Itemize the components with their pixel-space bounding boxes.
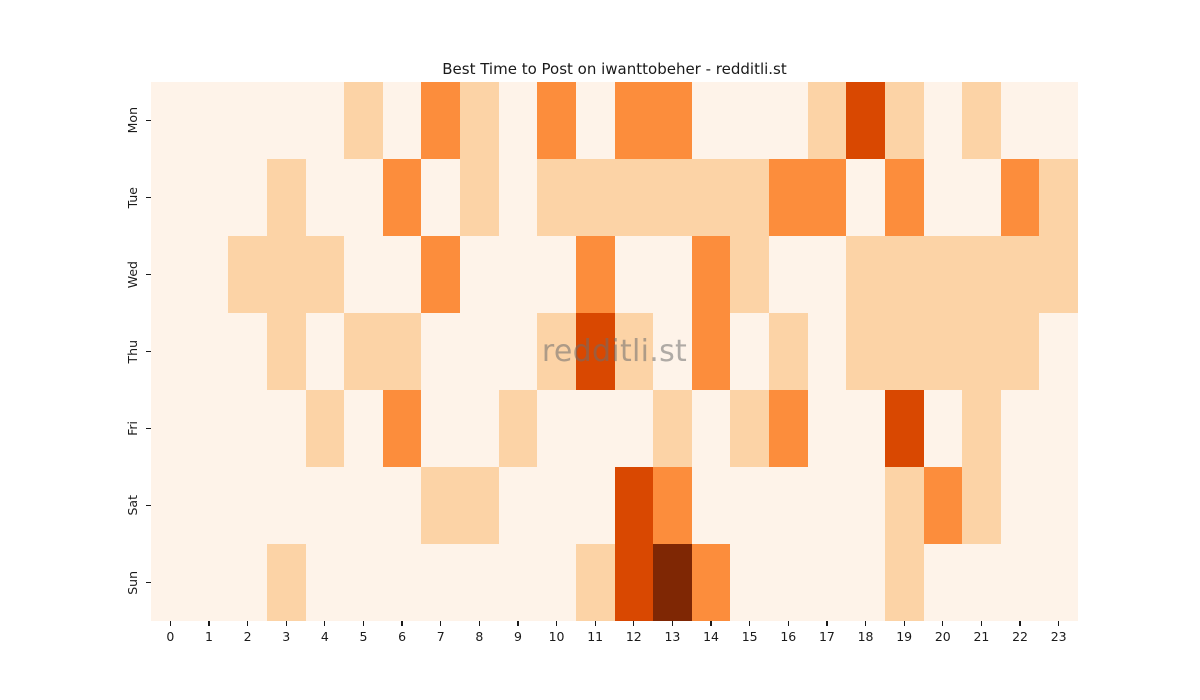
x-tick-19: 19 [885, 621, 924, 671]
x-tick-label: 9 [514, 631, 522, 644]
heatmap-cell [190, 390, 229, 467]
heatmap-cell [808, 159, 847, 236]
heatmap-cell [885, 313, 924, 390]
heatmap-cell [344, 467, 383, 544]
x-tick-mark [710, 621, 711, 626]
heatmap-cell [576, 544, 615, 621]
x-tick-15: 15 [730, 621, 769, 671]
heatmap-cell [846, 313, 885, 390]
x-tick-mark [479, 621, 480, 626]
heatmap-grid [151, 82, 1078, 621]
heatmap-cell [306, 390, 345, 467]
y-tick-label: Mon [127, 107, 140, 133]
heatmap-cell [267, 82, 306, 159]
heatmap-cell [344, 390, 383, 467]
x-tick-10: 10 [537, 621, 576, 671]
heatmap-cell [846, 467, 885, 544]
x-tick-mark [981, 621, 982, 626]
heatmap-cell [924, 313, 963, 390]
heatmap-cell [228, 390, 267, 467]
heatmap-cell [808, 313, 847, 390]
heatmap-cell [306, 159, 345, 236]
heatmap-cell [962, 544, 1001, 621]
heatmap-cell [151, 236, 190, 313]
heatmap-cell [344, 544, 383, 621]
heatmap-cell [421, 544, 460, 621]
y-axis: MonTueWedThuFriSatSun [0, 82, 151, 621]
x-axis: 01234567891011121314151617181920212223 [151, 621, 1078, 671]
y-tick-label: Fri [127, 421, 140, 436]
x-tick-3: 3 [267, 621, 306, 671]
heatmap-cell [615, 236, 654, 313]
heatmap-cell [344, 236, 383, 313]
heatmap-cell [846, 390, 885, 467]
x-tick-label: 12 [626, 631, 642, 644]
x-tick-label: 4 [321, 631, 329, 644]
heatmap-cell [1001, 467, 1040, 544]
heatmap-cell [1001, 82, 1040, 159]
x-tick-mark [595, 621, 596, 626]
heatmap-cell [499, 313, 538, 390]
heatmap-cell [460, 390, 499, 467]
heatmap-cell [576, 82, 615, 159]
heatmap-cell [1001, 390, 1040, 467]
x-tick-label: 7 [437, 631, 445, 644]
heatmap-cell [190, 467, 229, 544]
x-tick-mark [1058, 621, 1059, 626]
heatmap-cell [808, 467, 847, 544]
heatmap-cell [190, 544, 229, 621]
heatmap-cell [344, 159, 383, 236]
heatmap-cell [846, 236, 885, 313]
heatmap-cell [537, 159, 576, 236]
heatmap-cell [421, 236, 460, 313]
heatmap-cell [730, 390, 769, 467]
x-tick-20: 20 [924, 621, 963, 671]
heatmap-cell [730, 467, 769, 544]
heatmap-cell [885, 236, 924, 313]
heatmap-cell [576, 390, 615, 467]
heatmap-cell [537, 467, 576, 544]
page-title: Best Time to Post on iwanttobeher - redd… [151, 60, 1078, 78]
heatmap-cell [151, 159, 190, 236]
heatmap-cell [460, 236, 499, 313]
y-tick-label: Thu [127, 340, 140, 363]
heatmap-cell [421, 467, 460, 544]
heatmap-cell [962, 467, 1001, 544]
x-tick-23: 23 [1039, 621, 1078, 671]
x-tick-7: 7 [421, 621, 460, 671]
x-tick-mark [440, 621, 441, 626]
heatmap-cell [692, 467, 731, 544]
x-tick-label: 17 [819, 631, 835, 644]
heatmap-cell [924, 544, 963, 621]
heatmap-cell [808, 390, 847, 467]
heatmap-cell [692, 313, 731, 390]
heatmap-cell [1039, 467, 1078, 544]
x-tick-label: 6 [398, 631, 406, 644]
heatmap-cell [537, 236, 576, 313]
heatmap-cell [1039, 313, 1078, 390]
y-tick-sat: Sat [0, 467, 151, 544]
heatmap-cell [537, 390, 576, 467]
x-tick-mark [517, 621, 518, 626]
x-tick-label: 2 [244, 631, 252, 644]
x-tick-label: 11 [587, 631, 603, 644]
heatmap-cell [499, 82, 538, 159]
x-tick-5: 5 [344, 621, 383, 671]
heatmap-cell [615, 467, 654, 544]
x-tick-mark [1019, 621, 1020, 626]
heatmap-cell [730, 313, 769, 390]
heatmap-cell [576, 236, 615, 313]
heatmap-cell [499, 159, 538, 236]
heatmap-cell [267, 467, 306, 544]
heatmap-cell [692, 390, 731, 467]
heatmap-cell [1039, 82, 1078, 159]
heatmap-cell [344, 82, 383, 159]
heatmap-cell [190, 82, 229, 159]
heatmap-cell [499, 544, 538, 621]
heatmap-figure: Best Time to Post on iwanttobeher - redd… [0, 0, 1200, 700]
heatmap-cell [962, 236, 1001, 313]
heatmap-cell [962, 159, 1001, 236]
heatmap-cell [730, 82, 769, 159]
heatmap-cell [460, 159, 499, 236]
heatmap-cell [885, 159, 924, 236]
x-tick-mark [363, 621, 364, 626]
heatmap-cell [692, 159, 731, 236]
heatmap-cell [267, 544, 306, 621]
heatmap-cell [190, 236, 229, 313]
heatmap-cell [615, 390, 654, 467]
x-tick-mark [749, 621, 750, 626]
x-tick-mark [904, 621, 905, 626]
heatmap-cell [383, 82, 422, 159]
heatmap-cell [962, 390, 1001, 467]
x-tick-mark [865, 621, 866, 626]
heatmap-cell [576, 467, 615, 544]
x-tick-mark [556, 621, 557, 626]
heatmap-cell [730, 159, 769, 236]
heatmap-cell [306, 82, 345, 159]
x-tick-21: 21 [962, 621, 1001, 671]
x-tick-label: 23 [1051, 631, 1067, 644]
x-tick-9: 9 [499, 621, 538, 671]
heatmap-cell [1001, 544, 1040, 621]
y-tick-tue: Tue [0, 159, 151, 236]
heatmap-cell [653, 544, 692, 621]
y-tick-label: Tue [127, 187, 140, 208]
x-tick-4: 4 [306, 621, 345, 671]
heatmap-cell [653, 236, 692, 313]
heatmap-cell [306, 544, 345, 621]
heatmap-cell [924, 159, 963, 236]
heatmap-cell [151, 82, 190, 159]
x-tick-label: 8 [475, 631, 483, 644]
heatmap-cell [190, 313, 229, 390]
heatmap-cell [615, 313, 654, 390]
heatmap-cell [769, 159, 808, 236]
x-tick-17: 17 [808, 621, 847, 671]
x-tick-mark [324, 621, 325, 626]
heatmap-cell [267, 313, 306, 390]
heatmap-cell [924, 467, 963, 544]
heatmap-cell [653, 82, 692, 159]
heatmap-cell [499, 236, 538, 313]
heatmap-cell [615, 159, 654, 236]
heatmap-cell [228, 467, 267, 544]
x-tick-16: 16 [769, 621, 808, 671]
heatmap-cell [885, 82, 924, 159]
heatmap-cell [267, 159, 306, 236]
heatmap-cell [228, 236, 267, 313]
x-tick-0: 0 [151, 621, 190, 671]
y-tick-label: Wed [127, 261, 140, 288]
x-tick-6: 6 [383, 621, 422, 671]
heatmap-cell [692, 82, 731, 159]
heatmap-cell [383, 313, 422, 390]
heatmap-cell [885, 544, 924, 621]
heatmap-cell [924, 82, 963, 159]
x-tick-mark [247, 621, 248, 626]
heatmap-cell [537, 544, 576, 621]
heatmap-cell [769, 390, 808, 467]
heatmap-cell [1039, 390, 1078, 467]
x-tick-13: 13 [653, 621, 692, 671]
heatmap-cell [228, 313, 267, 390]
y-tick-label: Sun [127, 571, 140, 595]
heatmap-cell [460, 467, 499, 544]
x-tick-mark [170, 621, 171, 626]
x-tick-label: 14 [703, 631, 719, 644]
heatmap-cell [846, 82, 885, 159]
heatmap-cell [846, 544, 885, 621]
heatmap-cell [846, 159, 885, 236]
x-tick-label: 10 [549, 631, 565, 644]
heatmap-cell [885, 390, 924, 467]
x-tick-label: 20 [935, 631, 951, 644]
heatmap-cell [962, 82, 1001, 159]
x-tick-mark [401, 621, 402, 626]
heatmap-cell [421, 313, 460, 390]
heatmap-cell [421, 82, 460, 159]
heatmap-cell [924, 236, 963, 313]
heatmap-cell [885, 467, 924, 544]
y-tick-label: Sat [127, 495, 140, 516]
heatmap-cell [383, 159, 422, 236]
x-tick-18: 18 [846, 621, 885, 671]
heatmap-cell [306, 313, 345, 390]
heatmap-cell [460, 313, 499, 390]
heatmap-cell [151, 544, 190, 621]
heatmap-cell [228, 159, 267, 236]
heatmap-cell [924, 390, 963, 467]
heatmap-cell [615, 82, 654, 159]
y-tick-fri: Fri [0, 390, 151, 467]
heatmap-cell [769, 313, 808, 390]
x-tick-label: 13 [664, 631, 680, 644]
x-tick-label: 5 [359, 631, 367, 644]
heatmap-cell [499, 467, 538, 544]
x-tick-14: 14 [692, 621, 731, 671]
heatmap-cell [151, 467, 190, 544]
heatmap-cell [692, 544, 731, 621]
heatmap-cell [730, 544, 769, 621]
heatmap-cell [615, 544, 654, 621]
heatmap-cell [306, 467, 345, 544]
heatmap-cell [383, 236, 422, 313]
x-tick-label: 3 [282, 631, 290, 644]
heatmap-cell [421, 159, 460, 236]
heatmap-cell [1001, 236, 1040, 313]
x-tick-mark [788, 621, 789, 626]
x-tick-mark [942, 621, 943, 626]
heatmap-cell [576, 159, 615, 236]
heatmap-cell [653, 313, 692, 390]
heatmap-cell [499, 390, 538, 467]
x-tick-mark [672, 621, 673, 626]
heatmap-cell [1001, 313, 1040, 390]
x-tick-label: 15 [742, 631, 758, 644]
heatmap-cell [576, 313, 615, 390]
heatmap-cell [653, 390, 692, 467]
heatmap-cell [1001, 159, 1040, 236]
x-tick-mark [633, 621, 634, 626]
x-tick-mark [208, 621, 209, 626]
x-tick-label: 16 [780, 631, 796, 644]
y-tick-wed: Wed [0, 236, 151, 313]
heatmap-cell [267, 390, 306, 467]
x-tick-8: 8 [460, 621, 499, 671]
heatmap-cell [267, 236, 306, 313]
heatmap-cell [1039, 544, 1078, 621]
x-tick-label: 1 [205, 631, 213, 644]
heatmap-cell [383, 467, 422, 544]
heatmap-cell [383, 544, 422, 621]
x-tick-label: 21 [973, 631, 989, 644]
heatmap-cell [808, 82, 847, 159]
x-tick-12: 12 [615, 621, 654, 671]
heatmap-cell [383, 390, 422, 467]
heatmap-cell [306, 236, 345, 313]
y-tick-sun: Sun [0, 544, 151, 621]
x-tick-2: 2 [228, 621, 267, 671]
heatmap-cell [653, 159, 692, 236]
x-tick-label: 22 [1012, 631, 1028, 644]
x-tick-label: 18 [858, 631, 874, 644]
heatmap-cell [344, 313, 383, 390]
heatmap-cell [692, 236, 731, 313]
heatmap-cell [460, 544, 499, 621]
heatmap-cell [769, 544, 808, 621]
heatmap-cell [228, 82, 267, 159]
x-tick-11: 11 [576, 621, 615, 671]
x-tick-1: 1 [190, 621, 229, 671]
heatmap-cell [769, 236, 808, 313]
heatmap-cell [228, 544, 267, 621]
x-tick-mark [286, 621, 287, 626]
heatmap-cell [730, 236, 769, 313]
x-tick-mark [826, 621, 827, 626]
heatmap-cell [151, 313, 190, 390]
heatmap-cell [808, 544, 847, 621]
heatmap-cell [421, 390, 460, 467]
heatmap-cell [151, 390, 190, 467]
heatmap-cell [537, 313, 576, 390]
y-tick-thu: Thu [0, 313, 151, 390]
heatmap-cell [1039, 236, 1078, 313]
heatmap-cell [808, 236, 847, 313]
heatmap-cell [460, 82, 499, 159]
y-tick-mon: Mon [0, 82, 151, 159]
heatmap-cell [769, 467, 808, 544]
plot-area: redditli.st [151, 82, 1078, 621]
heatmap-cell [537, 82, 576, 159]
heatmap-cell [769, 82, 808, 159]
x-tick-label: 19 [896, 631, 912, 644]
heatmap-cell [190, 159, 229, 236]
heatmap-cell [1039, 159, 1078, 236]
x-tick-22: 22 [1001, 621, 1040, 671]
heatmap-cell [653, 467, 692, 544]
x-tick-label: 0 [166, 631, 174, 644]
heatmap-cell [962, 313, 1001, 390]
